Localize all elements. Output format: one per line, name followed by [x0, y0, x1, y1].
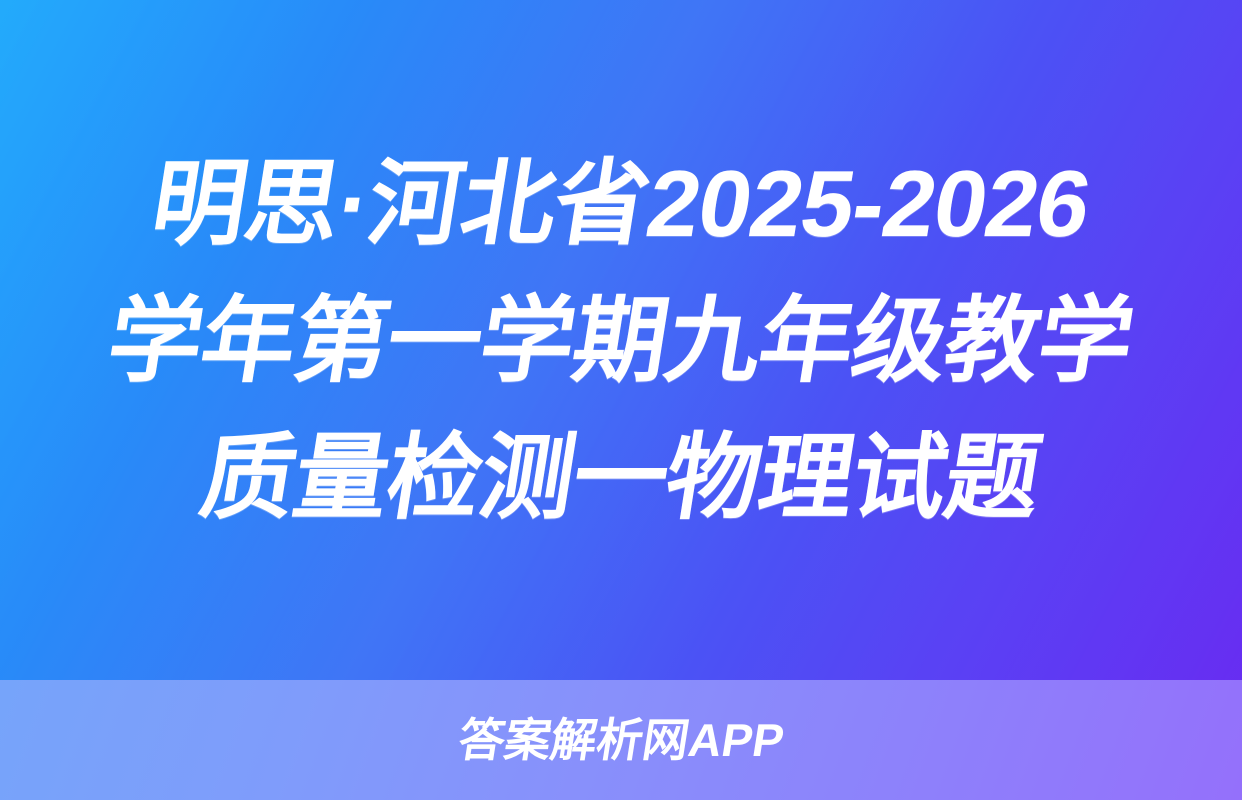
- exam-title-line-3: 质量检测一物理试题: [192, 409, 1051, 546]
- exam-title-line-1: 明思·河北省2025-2026: [142, 135, 1100, 272]
- app-brand-label: 答案解析网APP: [455, 714, 788, 766]
- exam-title-line-2: 学年第一学期九年级教学: [99, 272, 1144, 409]
- exam-cover-card: 明思·河北省2025-2026 学年第一学期九年级教学 质量检测一物理试题 答案…: [0, 0, 1242, 800]
- exam-title-block: 明思·河北省2025-2026 学年第一学期九年级教学 质量检测一物理试题: [0, 0, 1242, 680]
- footer-watermark-band: 答案解析网APP: [0, 680, 1242, 800]
